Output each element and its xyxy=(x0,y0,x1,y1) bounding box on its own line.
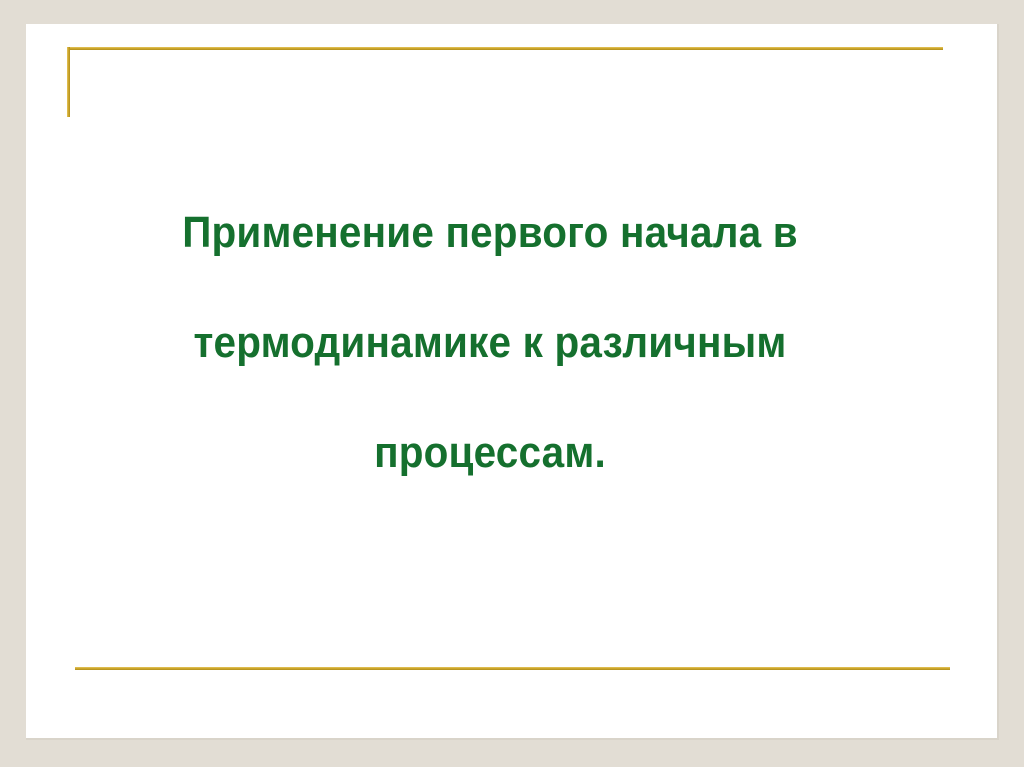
gold-rule-top-vertical xyxy=(67,47,70,117)
panel-edge-bottom xyxy=(26,738,999,740)
title-line-1: Применение первого начала в xyxy=(94,178,885,288)
gold-rule-top-horizontal xyxy=(67,47,943,50)
slide-title: Применение первого начала в термодинамик… xyxy=(60,178,920,508)
title-line-3: процессам. xyxy=(94,398,885,508)
slide-canvas: Применение первого начала в термодинамик… xyxy=(0,0,1024,767)
gold-rule-bottom-horizontal xyxy=(75,667,950,670)
title-line-2: термодинамике к различным xyxy=(94,288,885,398)
panel-edge-right xyxy=(997,24,999,740)
